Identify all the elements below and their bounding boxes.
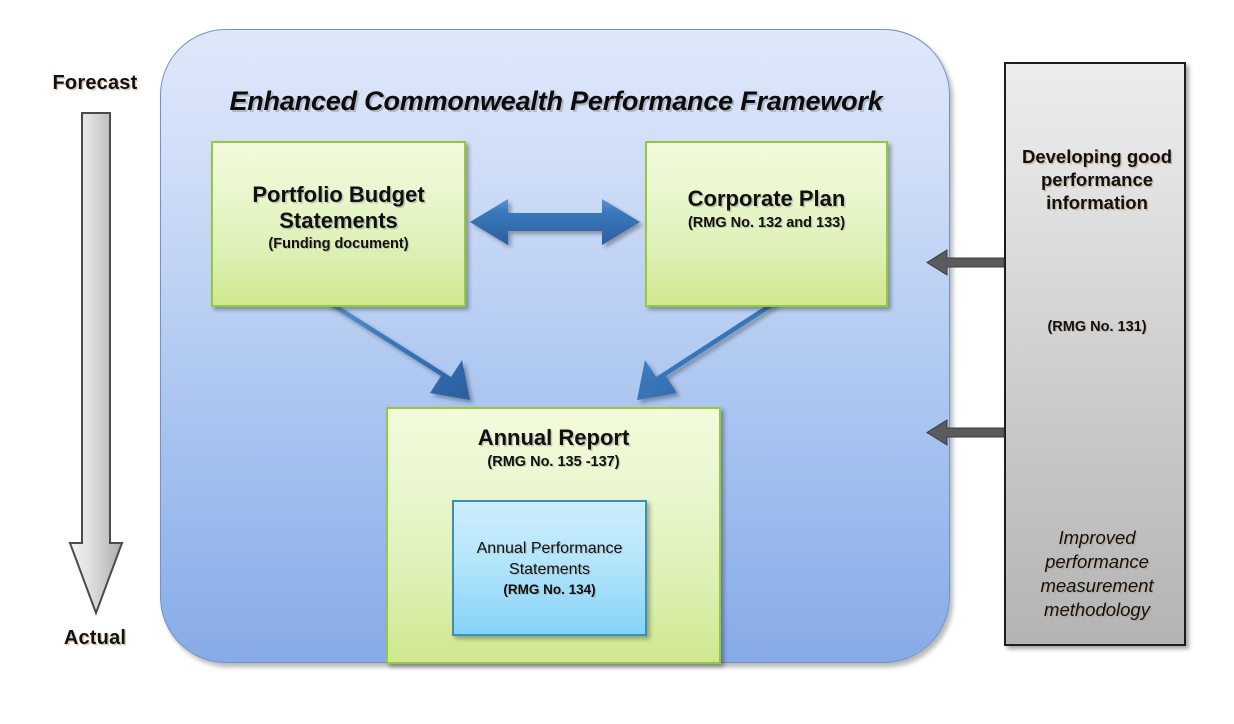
box-portfolio-budget-statements[interactable]: Portfolio Budget Statements (Funding doc… <box>211 141 466 307</box>
down-arrow-icon <box>64 112 128 624</box>
timeline-label-actual: Actual <box>0 627 195 650</box>
box-aps-title: Annual Performance Statements <box>454 539 645 580</box>
side-panel-top-label: Developing good performance information <box>1006 146 1188 215</box>
box-annual-performance-statements[interactable]: Annual Performance Statements (RMG No. 1… <box>452 500 647 636</box>
side-panel-top-subtitle: (RMG No. 131) <box>1006 319 1188 335</box>
box-pbs-subtitle: (Funding document) <box>268 236 408 253</box>
box-annual-report-subtitle: (RMG No. 135 -137) <box>388 454 719 471</box>
box-aps-subtitle: (RMG No. 134) <box>503 582 595 597</box>
page-title: Enhanced Commonwealth Performance Framew… <box>161 86 951 117</box>
box-corporate-plan-subtitle: (RMG No. 132 and 133) <box>688 215 845 232</box>
side-panel-bottom-label: Improved performance measurement methodo… <box>1006 526 1188 622</box>
box-annual-report-title: Annual Report <box>388 425 719 451</box>
diagram-canvas: Forecast Actual Enhanced Commonwealth Pe… <box>0 0 1234 724</box>
box-pbs-title: Portfolio Budget Statements <box>213 182 464 233</box>
side-panel[interactable]: Developing good performance information … <box>1004 62 1186 646</box>
box-corporate-plan-title: Corporate Plan <box>688 186 846 212</box>
box-corporate-plan[interactable]: Corporate Plan (RMG No. 132 and 133) <box>645 141 888 307</box>
